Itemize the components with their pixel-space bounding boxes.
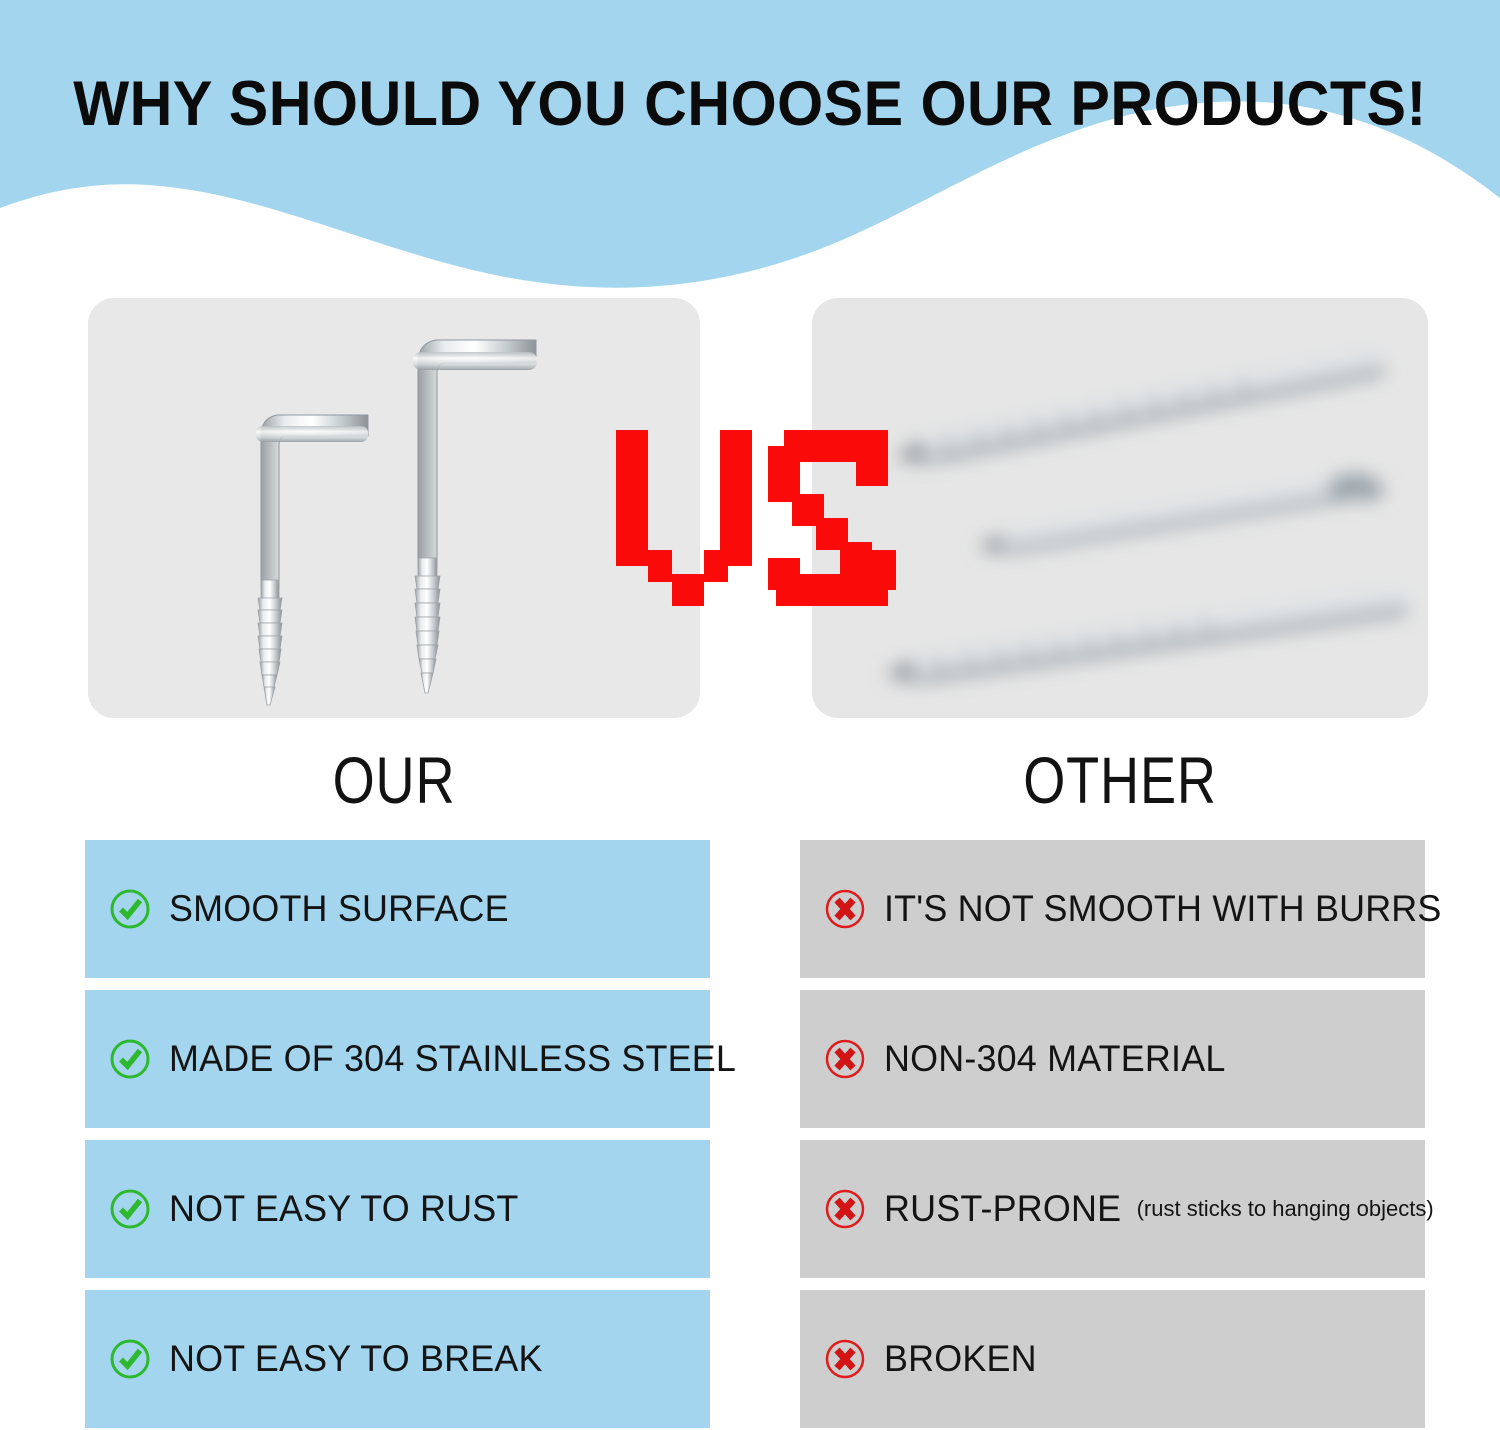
other-feature-label: IT'S NOT SMOOTH WITH BURRS	[884, 888, 1442, 930]
other-feature-label: RUST-PRONE	[884, 1188, 1121, 1230]
vs-badge	[608, 422, 904, 614]
check-circle-icon	[109, 1038, 151, 1080]
x-circle-icon	[824, 1038, 866, 1080]
other-feature-label: BROKEN	[884, 1338, 1037, 1380]
other-feature-row: NON-304 MATERIAL	[800, 990, 1425, 1128]
our-feature-label: SMOOTH SURFACE	[169, 888, 509, 930]
other-feature-row: IT'S NOT SMOOTH WITH BURRS	[800, 840, 1425, 978]
our-column-heading: OUR	[143, 742, 645, 818]
page-title: WHY SHOULD YOU CHOOSE OUR PRODUCTS!	[45, 68, 1455, 140]
x-circle-icon	[824, 1188, 866, 1230]
other-screws-illustration	[812, 298, 1428, 718]
our-feature-label: NOT EASY TO RUST	[169, 1188, 518, 1230]
our-feature-row: MADE OF 304 STAINLESS STEEL	[85, 990, 710, 1128]
our-feature-row: NOT EASY TO BREAK	[85, 1290, 710, 1428]
our-feature-label: MADE OF 304 STAINLESS STEEL	[169, 1038, 736, 1080]
other-feature-row: RUST-PRONE (rust sticks to hanging objec…	[800, 1140, 1425, 1278]
our-feature-row: NOT EASY TO RUST	[85, 1140, 710, 1278]
other-feature-row: BROKEN	[800, 1290, 1425, 1428]
check-circle-icon	[109, 888, 151, 930]
check-circle-icon	[109, 1338, 151, 1380]
other-feature-note: (rust sticks to hanging objects)	[1137, 1196, 1434, 1222]
header-wave-background	[0, 0, 1500, 290]
other-feature-label: NON-304 MATERIAL	[884, 1038, 1225, 1080]
x-circle-icon	[824, 888, 866, 930]
other-product-image	[812, 298, 1428, 718]
check-circle-icon	[109, 1188, 151, 1230]
our-feature-label: NOT EASY TO BREAK	[169, 1338, 543, 1380]
our-feature-list: SMOOTH SURFACE MADE OF 304 STAINLESS STE…	[85, 840, 710, 1430]
our-feature-row: SMOOTH SURFACE	[85, 840, 710, 978]
infographic-page: WHY SHOULD YOU CHOOSE OUR PRODUCTS!	[0, 0, 1500, 1430]
x-circle-icon	[824, 1338, 866, 1380]
other-column-heading: OTHER	[867, 742, 1372, 818]
other-feature-list: IT'S NOT SMOOTH WITH BURRS NON-304 MATER…	[800, 840, 1425, 1430]
